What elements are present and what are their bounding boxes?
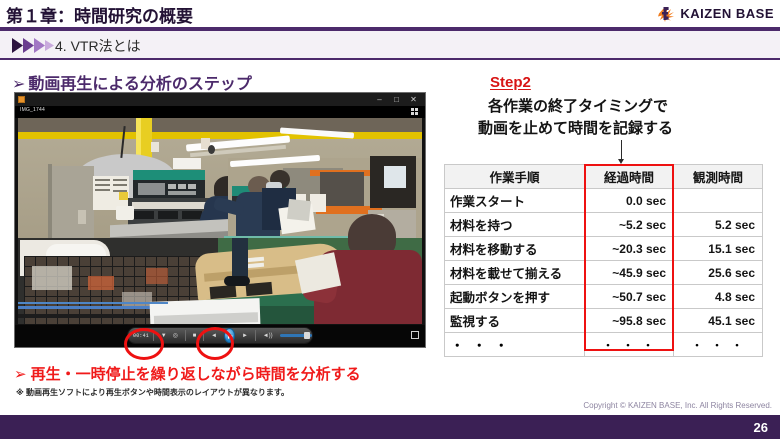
brand-name: KAIZEN BASE (680, 6, 774, 21)
cell-step-name: 作業スタート (445, 189, 585, 213)
cell-step-name: ・ ・ ・ (445, 333, 585, 357)
video-file-bar (15, 106, 425, 118)
table-row: 作業スタート 0.0 sec (445, 189, 763, 213)
cell-step-name: 起動ボタンを押す (445, 285, 585, 309)
table-header-row: 作業手順 経過時間 観測時間 (445, 165, 763, 189)
slide-canvas: 第１章：時間研究の概要 KAIZEN BASE (0, 0, 780, 439)
cell-observed: 4.8 sec (674, 285, 763, 309)
cell-observed (674, 189, 763, 213)
cell-step-name: 監視する (445, 309, 585, 333)
section-title: 4. VTR法とは (55, 36, 141, 56)
cell-elapsed: 0.0 sec (585, 189, 674, 213)
control-divider (255, 330, 256, 341)
step-description-line1: 各作業の終了タイミングで (488, 95, 668, 116)
cell-observed: 15.1 sec (674, 237, 763, 261)
left-note-text: 再生・一時停止を繰り返しながら時間を分析する (31, 366, 361, 383)
cell-observed: 5.2 sec (674, 213, 763, 237)
left-footnote: ※ 動画再生ソフトにより再生ボタンや時間表示のレイアウトが異なります。 (16, 387, 289, 398)
volume-slider[interactable] (280, 334, 312, 337)
cell-step-name: 材料を載せて揃える (445, 261, 585, 285)
column-header-observed: 観測時間 (674, 165, 763, 189)
left-bottom-note: ➢再生・一時停止を繰り返しながら時間を分析する (14, 363, 361, 384)
maximize-button[interactable]: □ (388, 94, 405, 105)
left-heading-text: 動画再生による分析のステップ (28, 76, 252, 93)
triple-play-arrow-icon (12, 38, 54, 53)
fullscreen-icon[interactable] (411, 331, 419, 339)
left-section-heading: ➢動画再生による分析のステップ (12, 70, 252, 94)
section-bar: 4. VTR法とは (0, 31, 780, 60)
table-row: 起動ボタンを押す ~50.7 sec 4.8 sec (445, 285, 763, 309)
table-row: 材料を移動する ~20.3 sec 15.1 sec (445, 237, 763, 261)
app-icon (18, 96, 25, 103)
cell-observed: 25.6 sec (674, 261, 763, 285)
time-study-table: 作業手順 経過時間 観測時間 作業スタート 0.0 sec 材料を持つ ~5.2… (444, 164, 763, 357)
table-row: ・ ・ ・ ・ ・ ・ ・ ・ ・ (445, 333, 763, 357)
cell-elapsed: ・ ・ ・ (585, 333, 674, 357)
kaizen-logo-icon (657, 4, 676, 23)
volume-icon[interactable]: ◄)) (263, 333, 273, 339)
annotation-circle-play (196, 327, 234, 360)
stop-icon[interactable]: ■ (193, 333, 197, 339)
brand-logo: KAIZEN BASE (657, 4, 774, 23)
close-button[interactable]: ✕ (405, 94, 422, 105)
video-frame-image (18, 118, 422, 324)
slide-header: 第１章：時間研究の概要 KAIZEN BASE (0, 0, 780, 27)
cell-observed: 45.1 sec (674, 309, 763, 333)
table-row: 材料を持つ ~5.2 sec 5.2 sec (445, 213, 763, 237)
cell-observed: ・ ・ ・ (674, 333, 763, 357)
heading-bullet-icon: ➢ (12, 76, 25, 93)
control-divider (185, 330, 186, 341)
page-number: 26 (754, 420, 768, 435)
loop-icon[interactable]: ◎ (173, 333, 178, 339)
note-bullet-icon: ➢ (14, 366, 27, 383)
thumbnail-grid-icon[interactable] (411, 108, 419, 116)
time-study-table-wrapper: 作業手順 経過時間 観測時間 作業スタート 0.0 sec 材料を持つ ~5.2… (444, 164, 762, 357)
cell-elapsed: ~20.3 sec (585, 237, 674, 261)
down-arrow-icon (621, 140, 622, 160)
minimize-button[interactable]: – (371, 94, 388, 105)
video-player-window[interactable]: – □ ✕ IMG_1744 (14, 92, 426, 348)
cell-step-name: 材料を持つ (445, 213, 585, 237)
column-header-step: 作業手順 (445, 165, 585, 189)
volume-knob[interactable] (304, 332, 310, 339)
cell-elapsed: ~5.2 sec (585, 213, 674, 237)
table-row: 材料を載せて揃える ~45.9 sec 25.6 sec (445, 261, 763, 285)
page-title: 第１章：時間研究の概要 (6, 2, 193, 27)
column-header-elapsed: 経過時間 (585, 165, 674, 189)
copyright-text: Copyright © KAIZEN BASE, Inc. All Rights… (583, 401, 772, 410)
cell-elapsed: ~45.9 sec (585, 261, 674, 285)
cell-elapsed: ~50.7 sec (585, 285, 674, 309)
video-filename: IMG_1744 (20, 107, 45, 113)
annotation-circle-time (124, 328, 164, 360)
next-frame-icon[interactable]: ► (242, 333, 248, 339)
step-description-line2: 動画を止めて時間を記録する (478, 117, 673, 138)
video-window-titlebar: – □ ✕ (15, 93, 425, 106)
cell-step-name: 材料を移動する (445, 237, 585, 261)
footer-bar: 26 (0, 415, 780, 439)
cell-elapsed: ~95.8 sec (585, 309, 674, 333)
step-label: Step2 (490, 74, 531, 91)
table-row: 監視する ~95.8 sec 45.1 sec (445, 309, 763, 333)
